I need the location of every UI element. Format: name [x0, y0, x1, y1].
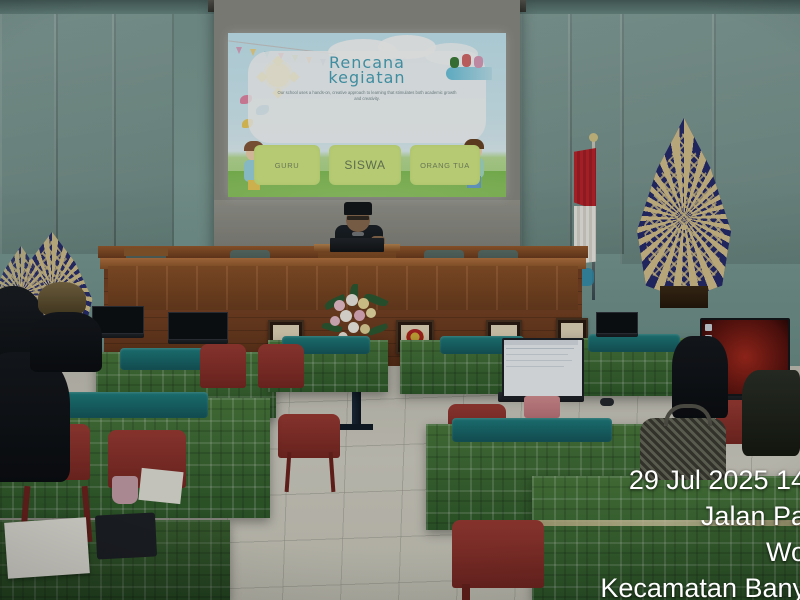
- slide-box-siswa: SISWA: [329, 145, 401, 185]
- kid-figure: [462, 54, 471, 67]
- speaker-glasses: [347, 216, 369, 220]
- flower-stand-base: [340, 424, 373, 430]
- bunting-flag: [236, 47, 242, 54]
- kid-figure: [474, 56, 483, 68]
- laptop-screen: [168, 312, 228, 340]
- wall-panel: [0, 14, 58, 254]
- stage-table-edge: [124, 248, 168, 256]
- phone-on-table: [95, 512, 157, 559]
- photo-canvas: Rencana kegiatan Our school uses a hands…: [0, 0, 800, 600]
- timestamp-geotag-overlay: 29 Jul 2025 14 Jalan Pa Wo Kecamatan Ban…: [600, 462, 800, 600]
- slide-category-boxes: GURU SISWA ORANG TUA: [254, 145, 480, 185]
- chair: [200, 344, 246, 388]
- paper-sheet: [4, 517, 90, 579]
- wall-panel: [112, 14, 174, 250]
- kid-figure: [450, 57, 459, 68]
- laptop-screen: [596, 312, 638, 334]
- slide-subtitle: Our school uses a hands-on, creative app…: [276, 90, 458, 102]
- small-item: [112, 476, 138, 504]
- slide-box-orang-tua: ORANG TUA: [410, 145, 480, 185]
- speaker-name-badge: [352, 232, 364, 236]
- chair: [258, 344, 304, 388]
- pink-notebook: [524, 396, 560, 418]
- slide-box-guru: GURU: [254, 145, 320, 185]
- flag-pole-finial: [589, 133, 598, 142]
- podium-laptop: [330, 238, 384, 252]
- chair-leg: [462, 584, 470, 600]
- participant-body: [30, 312, 102, 372]
- participant-body: [742, 370, 800, 456]
- wall-panel: [54, 14, 116, 254]
- pencil-rocket: [446, 67, 492, 80]
- timestamp-locality-line: Wo: [600, 534, 800, 570]
- participant-patterned-headscarf: [38, 282, 86, 316]
- laptop-screen-spreadsheet: [502, 338, 584, 398]
- chair: [452, 520, 544, 588]
- ornament-base-right: [660, 286, 708, 308]
- wall-panel: [520, 14, 572, 252]
- computer-mouse: [600, 398, 614, 406]
- table-runner: [452, 418, 612, 442]
- timestamp-date-line: 29 Jul 2025 14: [600, 462, 800, 498]
- timestamp-street-line: Jalan Pa: [600, 498, 800, 534]
- speaker-peci-cap: [344, 202, 372, 215]
- timestamp-district-line: Kecamatan Bany: [600, 570, 800, 600]
- indonesian-flag-red-band: [574, 148, 596, 210]
- presentation-slide: Rencana kegiatan Our school uses a hands…: [228, 33, 506, 197]
- paper-sheet: [138, 468, 183, 504]
